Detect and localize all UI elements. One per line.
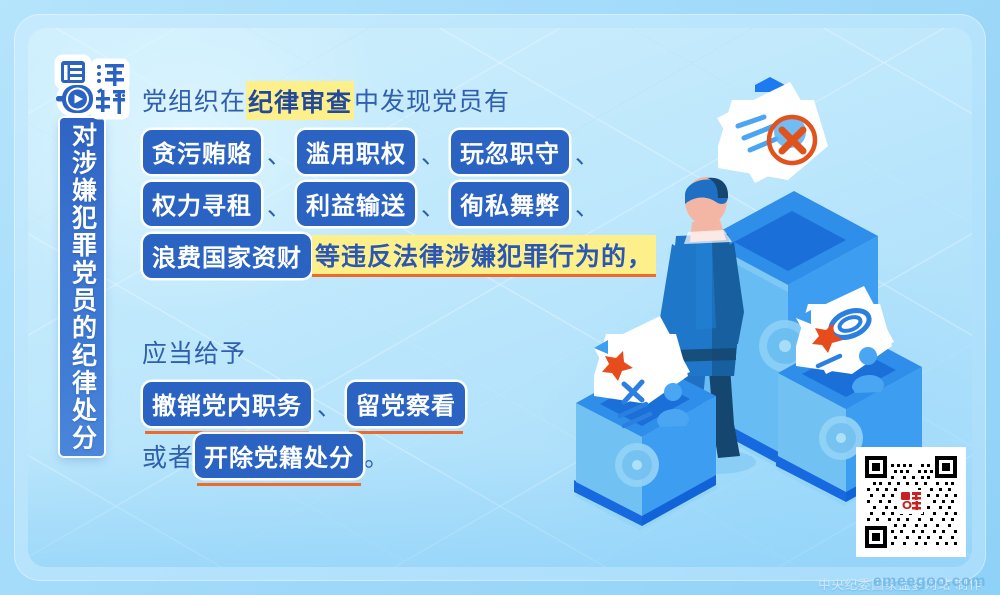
pill-lanyongzhiquan: 滥用职权: [297, 130, 415, 174]
pill-chexiaodangneizhiwu: 撤销党内职务: [143, 382, 311, 426]
site-watermark: emeegoo.com: [873, 573, 986, 591]
copy-line-2: 贪污贿赂 、 滥用职权 、 玩忽职守 、: [142, 130, 662, 174]
copy-line-7: 或者 开除党籍处分 。: [142, 434, 662, 478]
pill-liyishusong: 利益输送: [297, 182, 415, 226]
pill-quanlixunzu: 权力寻租: [143, 182, 261, 226]
copy-line-4: 浪费国家资财 等违反法律涉嫌犯罪行为的，: [142, 234, 662, 278]
separator-trailing: 、: [570, 135, 604, 170]
line1-highlight-disciplinary-review: 纪律审查: [246, 81, 354, 120]
copy-line-6: 撤销党内职务 、 留党察看: [142, 382, 662, 426]
pill-kaichudangjichufen: 开除党籍处分: [195, 434, 363, 478]
line7-pre: 或者: [142, 438, 194, 474]
copy-line-1: 党组织在 纪律审查 中发现党员有: [142, 78, 662, 122]
line7-post: 。: [364, 438, 390, 474]
copy-line-5: 应当给予: [142, 330, 662, 374]
separator-trailing: 、: [570, 187, 604, 222]
logo-char-ji: [61, 61, 85, 83]
line5-text: 应当给予: [142, 334, 246, 370]
body-copy: 党组织在 纪律审查 中发现党员有 贪污贿赂 、 滥用职权 、 玩忽职守 、 权力…: [142, 78, 662, 486]
separator: 、: [416, 135, 450, 170]
line1-post: 中发现党员有: [354, 82, 510, 118]
separator: 、: [262, 135, 296, 170]
separator: 、: [262, 187, 296, 222]
separator: 、: [312, 387, 346, 422]
pill-langfeiguojiazicai: 浪费国家资财: [143, 234, 311, 278]
vertical-title-banner: 对涉嫌犯罪党员的纪律处分: [60, 118, 104, 456]
copy-spacer: [142, 286, 662, 330]
brand-logo-jifa-baike: [52, 52, 164, 132]
qr-code-graphic: [861, 452, 961, 552]
line4-highlight-underlined: 等违反法律涉嫌犯罪行为的，: [312, 235, 656, 277]
copy-line-3: 权力寻租 、 利益输送 、 徇私舞弊 、: [142, 182, 662, 226]
separator: 、: [416, 187, 450, 222]
pill-tanwuhuilu: 贪污贿赂: [143, 130, 261, 174]
vertical-title-text: 对涉嫌犯罪党员的纪律处分: [70, 122, 95, 452]
infographic-poster: 对涉嫌犯罪党员的纪律处分 党组织在 纪律审查 中发现党员有 贪污贿赂 、 滥用职…: [0, 0, 1000, 595]
qr-code[interactable]: [856, 447, 966, 557]
pill-xunsiwubi: 徇私舞弊: [451, 182, 569, 226]
pill-wanhuzhishou: 玩忽职守: [451, 130, 569, 174]
pill-liudangchakan: 留党察看: [347, 382, 465, 426]
